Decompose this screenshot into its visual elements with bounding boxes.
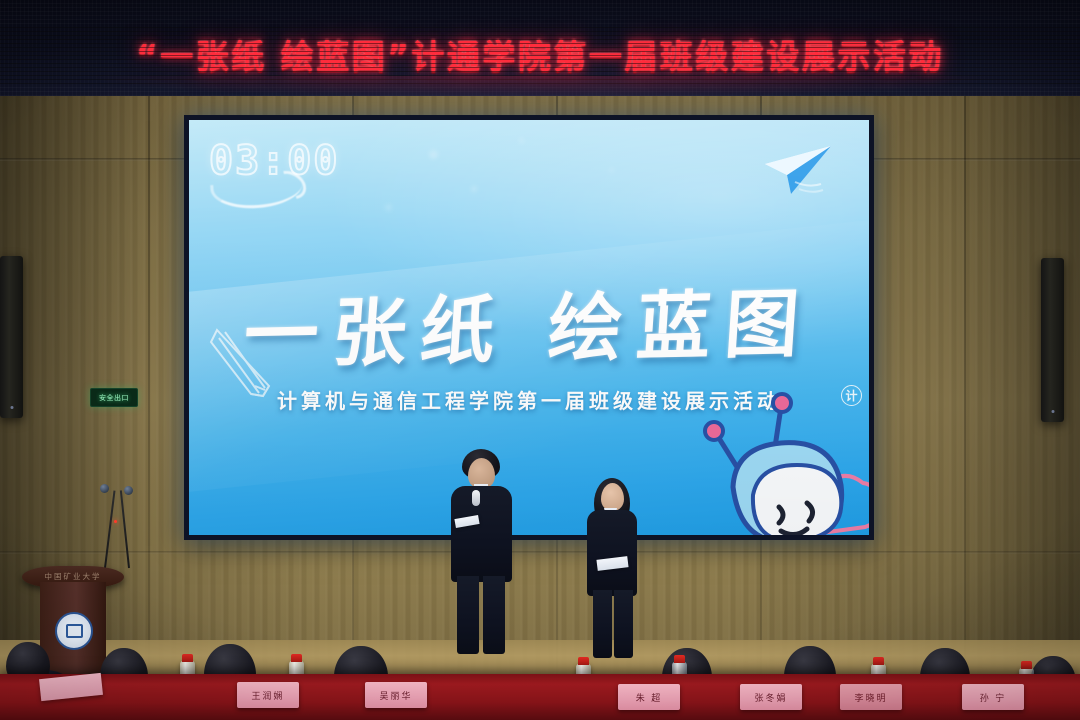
speaker-right: [1041, 258, 1064, 422]
presenter-female-leg-left: [593, 590, 612, 658]
microphone-led-indicator: [114, 520, 117, 523]
presenter-female-head: [601, 483, 624, 511]
microphone-handheld: [472, 490, 480, 506]
head-table: [0, 674, 1080, 720]
presenter-male-leg-left: [457, 576, 479, 654]
namecard: 朱 超: [618, 684, 680, 710]
namecard: 李晓明: [840, 684, 902, 710]
namecard: 王润娴: [237, 682, 299, 708]
presenter-female-leg-right: [614, 590, 633, 658]
presenter-male-torso: [451, 486, 512, 582]
event-photo-scene: “一张纸 绘蓝图”计通学院第一届班级建设展示活动 03:00: [0, 0, 1080, 720]
microphone-head-left: [100, 484, 109, 493]
led-banner: “一张纸 绘蓝图”计通学院第一届班级建设展示活动: [0, 0, 1080, 96]
university-emblem: [55, 612, 93, 650]
presenter-male-leg-right: [483, 576, 505, 654]
led-banner-text: “一张纸 绘蓝图”计通学院第一届班级建设展示活动: [0, 30, 1080, 78]
projection-screen: 03:00 一张纸: [189, 120, 869, 535]
speaker-left: [0, 256, 23, 418]
robot-mascot-icon: [629, 391, 869, 535]
namecard: 孙 宁: [962, 684, 1024, 710]
paper-plane-icon: [761, 142, 835, 198]
exit-sign-label: 安全出口: [99, 393, 129, 403]
led-banner-glow: [0, 76, 1080, 96]
slide-main-title: 一张纸 绘蓝图: [189, 263, 869, 384]
namecard: 张冬娟: [740, 684, 802, 710]
exit-sign: 安全出口: [90, 388, 138, 407]
namecard: 吴丽华: [365, 682, 427, 708]
microphone-head-right: [124, 486, 133, 495]
presenter-female-torso: [587, 510, 637, 596]
projection-screen-frame: 03:00 一张纸: [184, 115, 874, 540]
podium-label: 中国矿业大学: [22, 571, 124, 582]
